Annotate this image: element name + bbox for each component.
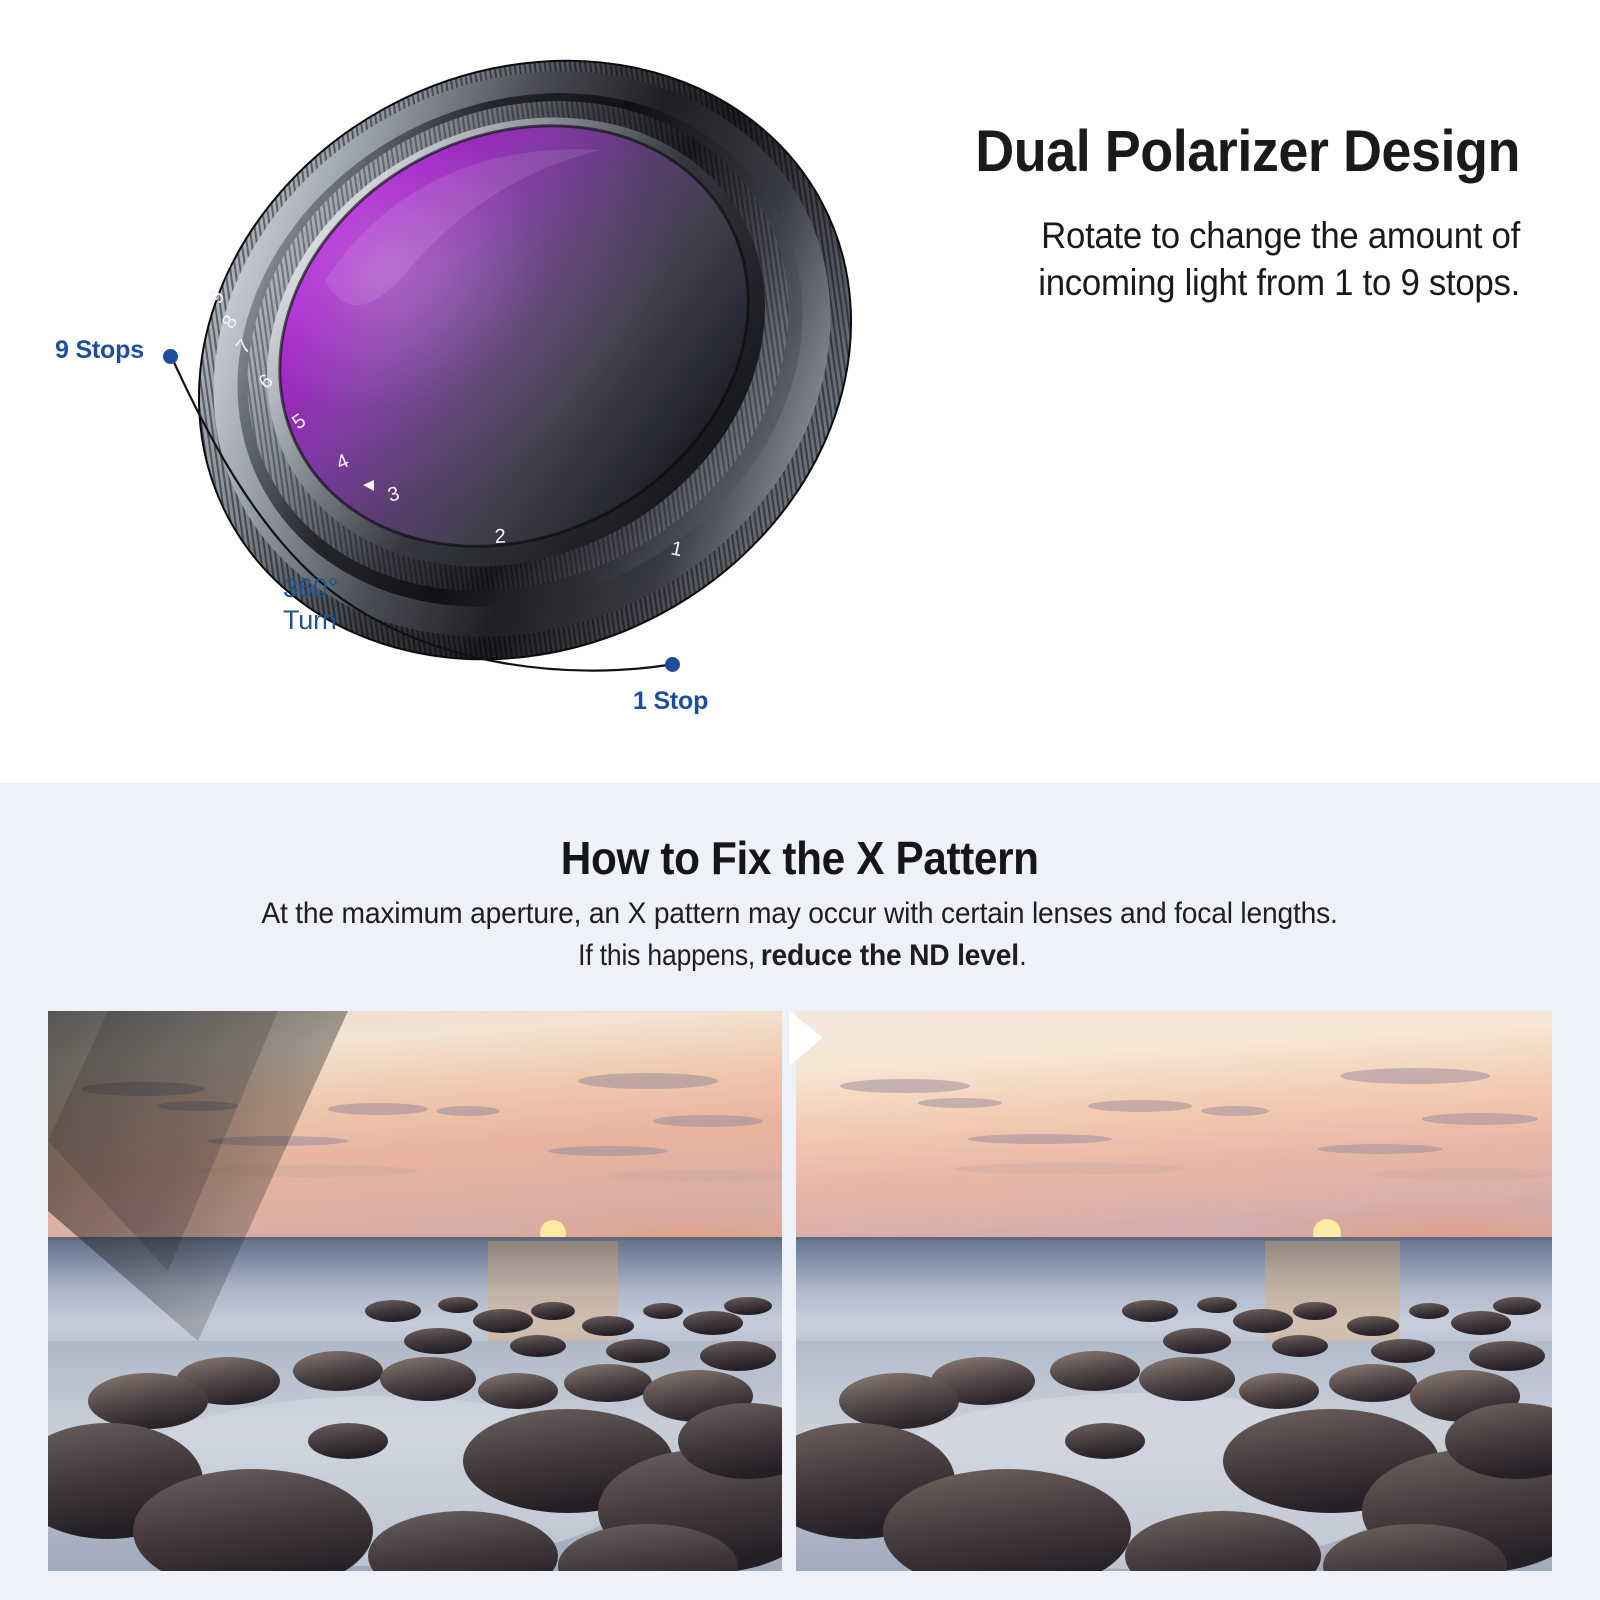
callout-360-line1: 360° [283, 572, 338, 604]
section-body-line-1: At the maximum aperture, an X pattern ma… [0, 893, 1600, 935]
body-line2-suffix: . [1020, 935, 1027, 977]
body-line2-emphasis: reduce the ND level [761, 939, 1019, 972]
photo-separator [782, 1011, 796, 1571]
section-body: At the maximum aperture, an X pattern ma… [0, 893, 1600, 977]
page-subtitle: Rotate to change the amount of incoming … [900, 212, 1520, 306]
section-body-line-2: If this happens, reduce the ND level. [0, 935, 1600, 977]
body-line2-prefix: If this happens, [579, 935, 756, 977]
chevron-right-icon [789, 1010, 833, 1066]
section-heading-text: How to Fix the X Pattern [561, 831, 1039, 885]
callout-label-1-stop: 1 Stop [633, 687, 708, 716]
callout-label-9-stops: 9 Stops [55, 336, 144, 365]
photo-corrected [795, 1011, 1552, 1571]
dial-number-2: 2 [494, 525, 506, 548]
callout-dot-9-stops [163, 349, 178, 364]
top-section: 9 8 7 6 5 4 3 2 1 9 Stops 1 Stop [0, 0, 1600, 783]
callout-label-360-turn: 360° Turn [283, 572, 338, 636]
nd-filter-illustration: 9 8 7 6 5 4 3 2 1 [150, 30, 910, 690]
photo-with-x-pattern [48, 1011, 782, 1571]
callout-dot-1-stop [665, 657, 680, 672]
comparison-photos [0, 1011, 1600, 1571]
subtitle-line-1: Rotate to change the amount of [1041, 215, 1520, 256]
page-title: Dual Polarizer Design [906, 120, 1520, 184]
bottom-section: How to Fix the X Pattern At the maximum … [0, 783, 1600, 1600]
headline-block: Dual Polarizer Design Rotate to change t… [860, 120, 1520, 306]
section-heading: How to Fix the X Pattern [0, 831, 1600, 885]
infographic-page: 9 8 7 6 5 4 3 2 1 9 Stops 1 Stop [0, 0, 1600, 1600]
subtitle-line-2: incoming light from 1 to 9 stops. [1038, 262, 1520, 303]
callout-360-line2: Turn [283, 604, 338, 636]
